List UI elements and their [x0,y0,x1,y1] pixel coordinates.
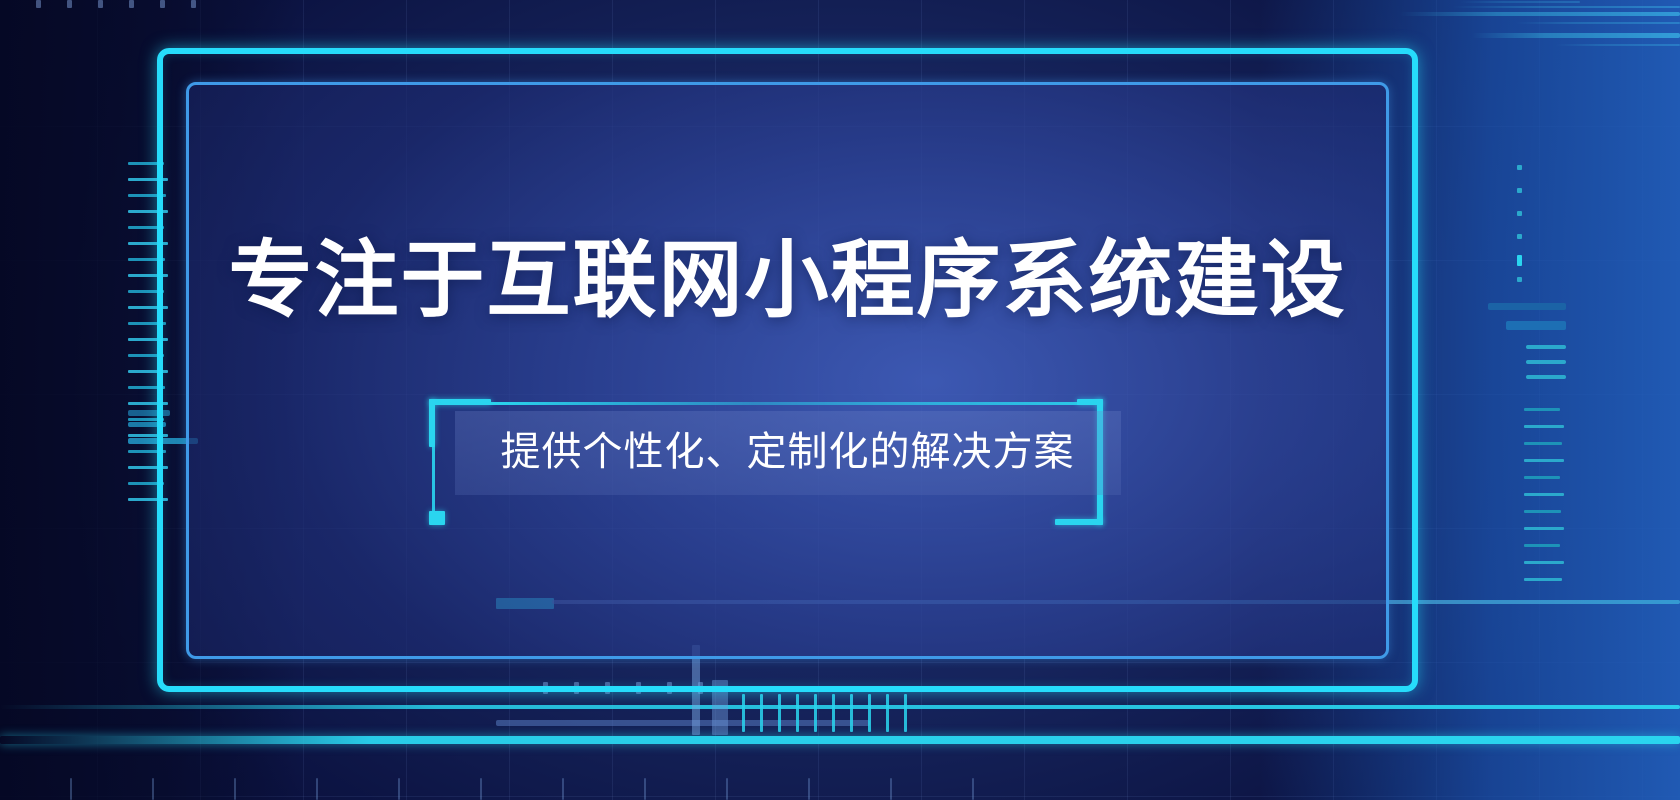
bracket-top-left-icon [429,399,491,405]
bottom-accent-line-1 [0,705,1680,709]
bracket-bottom-left-icon [429,511,445,525]
right-dot-column [1517,165,1523,285]
bottom-soft-line [496,720,870,726]
top-dotted-row [36,0,196,8]
bracket-top-rule-icon [489,402,1083,405]
page-title: 专注于互联网小程序系统建设 [228,236,1346,324]
subtitle-text: 提供个性化、定制化的解决方案 [501,427,1075,477]
subtitle-block: 提供个性化、定制化的解决方案 [455,411,1121,495]
bottom-accent-line-2 [0,736,1680,744]
tech-banner: 专注于互联网小程序系统建设 提供个性化、定制化的解决方案 [0,0,1680,800]
right-ruler-ticks [1524,408,1566,588]
banner-content: 专注于互联网小程序系统建设 提供个性化、定制化的解决方案 [186,82,1389,659]
bracket-bottom-right-icon [1055,519,1103,525]
bracket-left-thin-line-icon [432,441,435,519]
bracket-left-vertical-icon [429,399,435,447]
subtitle-box: 提供个性化、定制化的解决方案 [455,411,1121,495]
